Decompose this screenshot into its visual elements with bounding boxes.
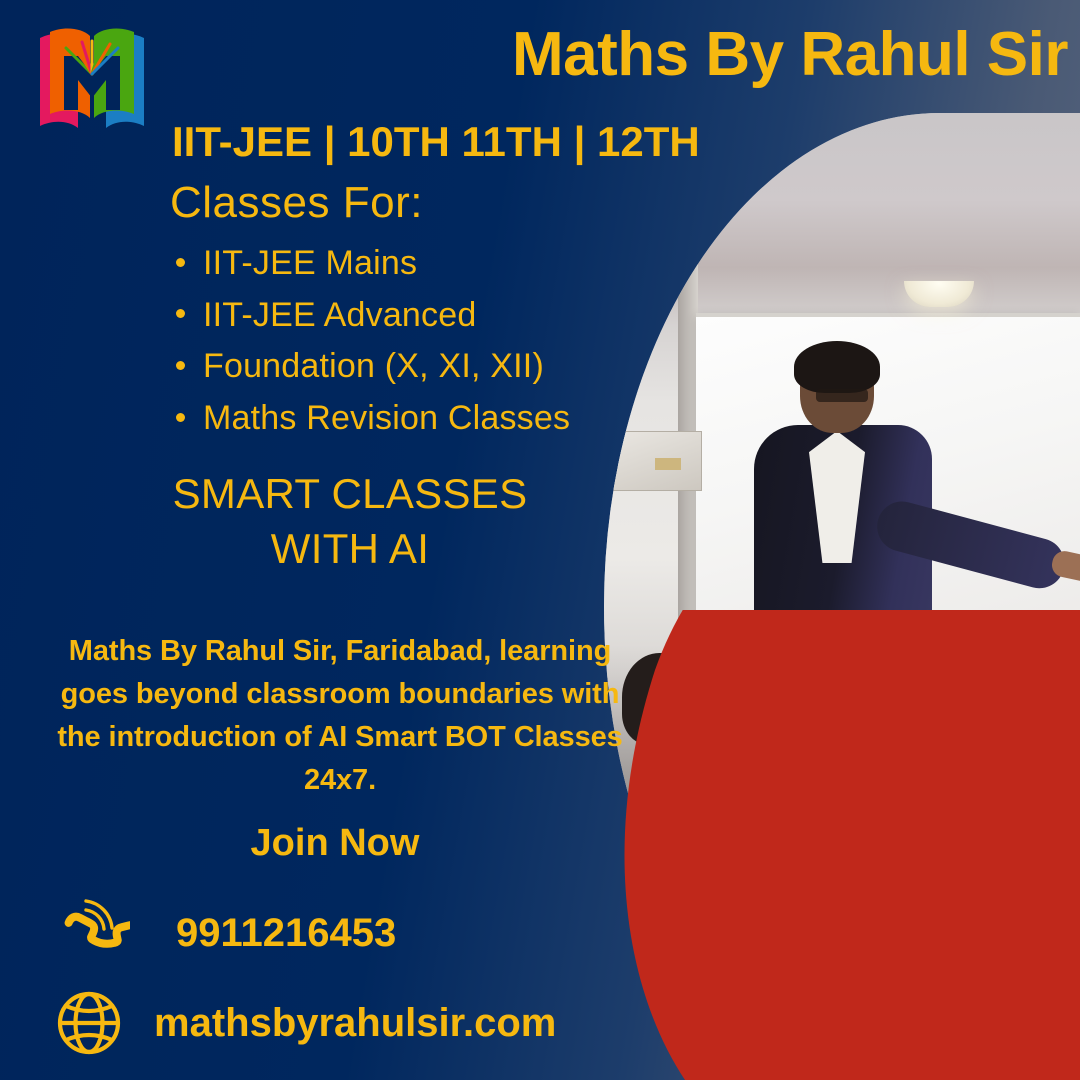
course-label: IIT-JEE Mains bbox=[203, 244, 417, 282]
list-item: Maths Revision Classes bbox=[176, 393, 570, 445]
join-now-cta[interactable]: Join Now bbox=[70, 822, 600, 865]
bullet-dot bbox=[176, 309, 185, 318]
exam-tagline: IIT-JEE | 10TH 11TH | 12TH bbox=[172, 118, 700, 166]
course-label: Foundation (X, XI, XII) bbox=[203, 347, 544, 385]
brand-logo bbox=[30, 24, 154, 142]
page-title: Maths By Rahul Sir bbox=[420, 24, 1068, 86]
smart-classes-line1: SMART CLASSES bbox=[100, 466, 600, 521]
smart-classes-line2: WITH AI bbox=[100, 521, 600, 576]
course-label: Maths Revision Classes bbox=[203, 399, 570, 437]
phone-number: 9911216453 bbox=[176, 911, 396, 956]
course-label: IIT-JEE Advanced bbox=[203, 296, 476, 334]
bullet-dot bbox=[176, 258, 185, 267]
bullet-dot bbox=[176, 361, 185, 370]
contact-website-row[interactable]: mathsbyrahulsir.com bbox=[52, 986, 556, 1060]
smart-classes-banner: SMART CLASSES WITH AI bbox=[100, 466, 600, 577]
list-item: IIT-JEE Advanced bbox=[176, 290, 570, 342]
course-list: IIT-JEE Mains IIT-JEE Advanced Foundatio… bbox=[176, 238, 570, 445]
globe-icon bbox=[52, 986, 126, 1060]
list-item: Foundation (X, XI, XII) bbox=[176, 341, 570, 393]
contact-phone-row[interactable]: 9911216453 bbox=[56, 896, 396, 970]
description-text: Maths By Rahul Sir, Faridabad, learning … bbox=[40, 630, 640, 802]
poster-canvas: Maths By Rahul Sir IIT-JEE | 10TH 11TH |… bbox=[0, 0, 1080, 1080]
list-item: IIT-JEE Mains bbox=[176, 238, 570, 290]
website-url: mathsbyrahulsir.com bbox=[154, 1001, 556, 1046]
bullet-dot bbox=[176, 413, 185, 422]
phone-ringing-icon bbox=[56, 896, 130, 970]
classes-for-label: Classes For: bbox=[170, 178, 423, 228]
